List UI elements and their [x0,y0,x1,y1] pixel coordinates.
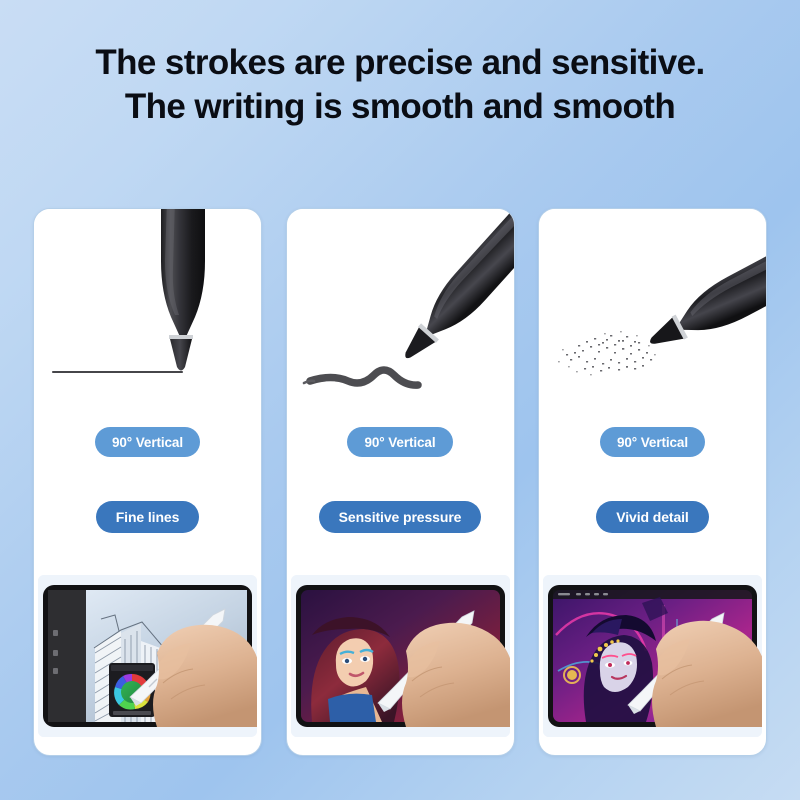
feature-card-vivid-detail: 90° Vertical Vivid detail [538,208,767,756]
illustration-sensitive-pressure [287,209,514,417]
hand [652,621,762,727]
page-headline: The strokes are precise and sensitive. T… [0,40,800,128]
product-feature-page: The strokes are precise and sensitive. T… [0,0,800,800]
badge-group-sensitive-pressure: 90° Vertical Sensitive pressure [287,417,514,575]
feature-card-fine-lines: 90° Vertical Fine lines [33,208,262,756]
tool-rail [48,590,86,722]
headline-line-1: The strokes are precise and sensitive. [30,40,771,84]
photo-tablet-architecture-sketch [38,575,257,737]
app-toolbar [553,590,752,599]
stipple-spray [558,331,656,375]
badge-feature: Sensitive pressure [319,501,482,533]
badge-feature: Fine lines [96,501,200,533]
badge-angle: 90° Vertical [347,427,452,457]
hand [402,623,510,727]
feature-card-sensitive-pressure: 90° Vertical Sensitive pressure [286,208,515,756]
headline-line-2: The writing is smooth and smooth [30,84,771,128]
badge-group-vivid-detail: 90° Vertical Vivid detail [539,417,766,575]
badge-angle: 90° Vertical [600,427,705,457]
photo-tablet-cyberpunk-art [543,575,762,737]
drawn-wavy-stroke [310,370,418,385]
stylus-nib [170,339,192,371]
badge-feature: Vivid detail [596,501,708,533]
stylus-collar [169,335,193,339]
hand [153,625,257,727]
illustration-fine-lines [34,209,261,417]
stylus-tilted [391,209,514,371]
illustration-vivid-detail [539,209,766,417]
photo-tablet-portrait-painting [291,575,510,737]
badge-angle: 90° Vertical [95,427,200,457]
feature-card-row: 90° Vertical Fine lines [33,208,767,756]
stylus-barrel [668,212,766,348]
badge-group-fine-lines: 90° Vertical Fine lines [34,417,261,575]
stylus-angled [640,212,766,362]
